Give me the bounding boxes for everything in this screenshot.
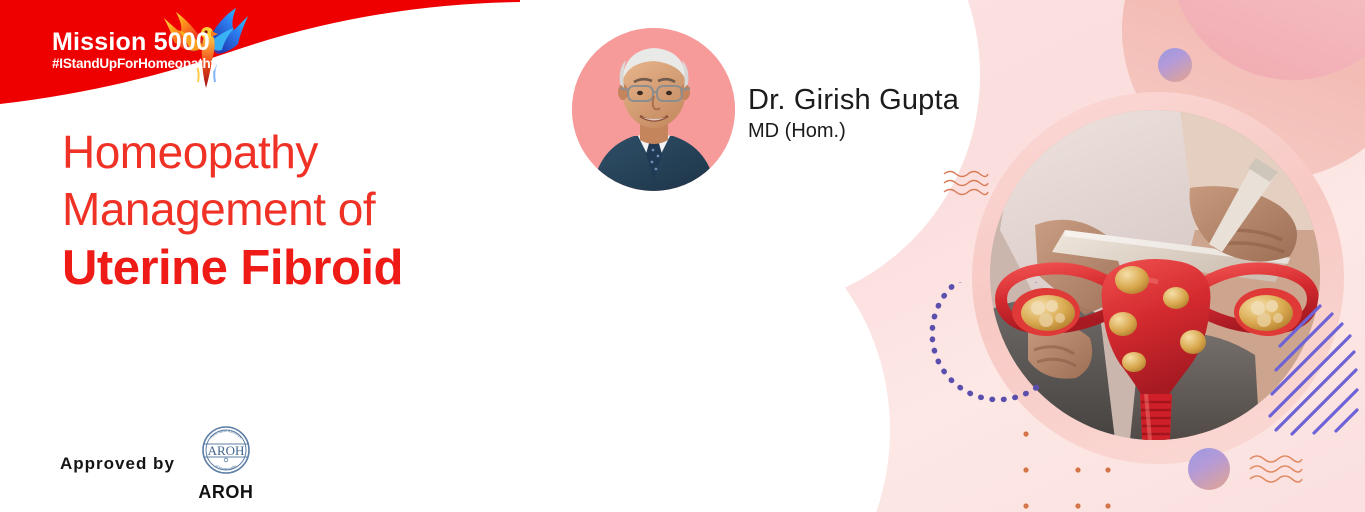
approval-row: Approved by AROH Association Rashtriya <box>60 424 255 503</box>
approved-by-label: Approved by <box>60 454 175 474</box>
wavy-lines-mid-decoration <box>942 168 990 198</box>
diagonal-stripes-decoration <box>1262 290 1362 440</box>
page-title: Homeopathy Management of Uterine Fibroid <box>62 124 582 298</box>
gradient-dot-top-decoration <box>1158 48 1192 82</box>
dot-grid-decoration <box>1020 428 1170 512</box>
doctor-degree: MD (Hom.) <box>748 120 846 143</box>
wavy-lines-low-decoration <box>1248 452 1304 484</box>
gradient-dot-bottom-decoration <box>1188 448 1230 490</box>
doctor-portrait-photo <box>572 28 735 191</box>
aroh-caption: AROH <box>198 482 253 503</box>
aroh-block: AROH Association Rashtriya of Homeopathy… <box>197 424 255 503</box>
white-blob-decoration <box>830 0 980 310</box>
svg-text:AROH: AROH <box>207 443 244 458</box>
headline-line-1: Homeopathy <box>62 124 582 181</box>
aroh-seal-icon: AROH Association Rashtriya of Homeopathy <box>197 424 255 476</box>
mission-title: Mission 5000 <box>52 28 210 57</box>
svg-text:of Homeopathy: of Homeopathy <box>215 464 238 471</box>
promo-banner: Mission 5000 #IStandUpForHomeopathy Home… <box>0 0 1365 512</box>
doctor-name: Dr. Girish Gupta <box>748 84 959 117</box>
headline-line-3: Uterine Fibroid <box>62 238 582 298</box>
headline-line-2: Management of <box>62 181 582 238</box>
mission-banner: Mission 5000 #IStandUpForHomeopathy <box>0 0 520 112</box>
decorative-panel <box>830 0 1365 512</box>
mission-hashtag: #IStandUpForHomeopathy <box>52 56 218 71</box>
dotted-arc-decoration <box>902 282 1042 422</box>
